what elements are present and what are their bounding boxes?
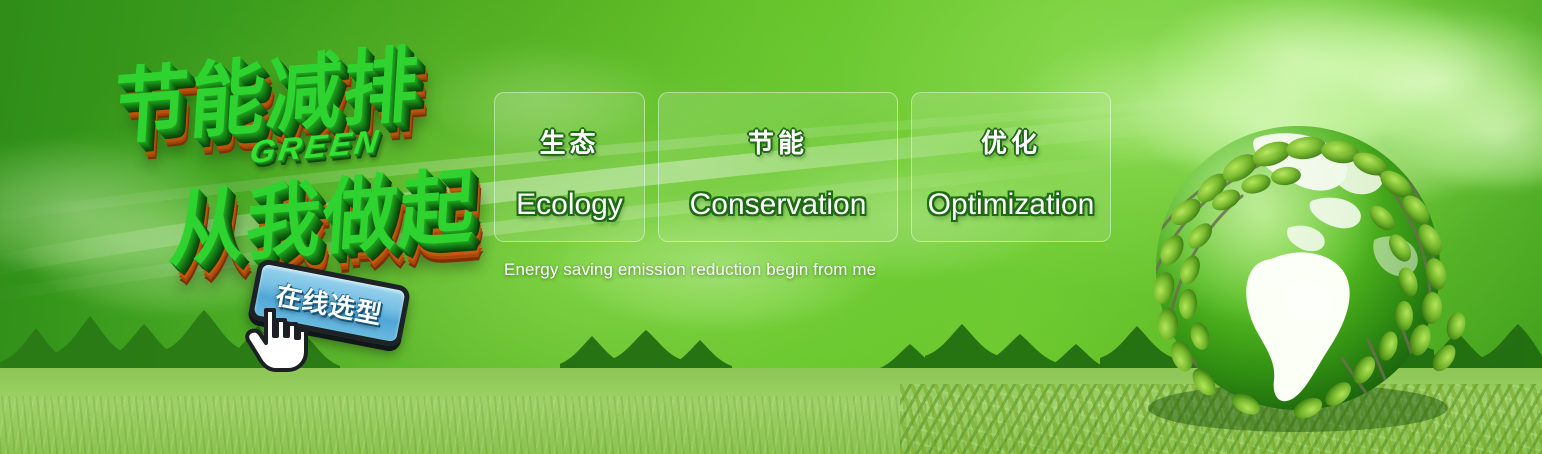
grass-field-icon (0, 368, 1542, 454)
hero-logo-line-green: GREEN (248, 123, 383, 171)
hero-logo-line-bottom: 从我做起 (166, 140, 480, 283)
feature-card-conservation[interactable]: 节能 Conservation (658, 92, 898, 242)
feature-card-ecology[interactable]: 生态 Ecology (494, 92, 645, 242)
online-selection-label: 在线选型 (273, 275, 386, 332)
cloud-icon (0, 140, 230, 270)
hero-logo-line-top: 节能减排 (110, 18, 424, 161)
feature-card-en-label: Optimization (928, 188, 1095, 222)
feature-card-list: 生态 Ecology 节能 Conservation 优化 Optimizati… (494, 92, 1111, 242)
feature-card-en-label: Conservation (690, 188, 867, 222)
grass-texture (0, 396, 1542, 454)
feature-card-en-label: Ecology (516, 188, 623, 222)
eco-hero-banner: 节能减排 GREEN 从我做起 在线选型 生态 Ecology 节能 Conse… (0, 0, 1542, 454)
feature-card-cn-label: 优化 (981, 123, 1041, 160)
online-selection-button[interactable]: 在线选型 (248, 258, 412, 348)
leafy-earth-globe-icon (1138, 108, 1468, 438)
feature-card-cn-label: 生态 (539, 123, 599, 160)
leaf-litter-icon (900, 384, 1542, 454)
feature-card-optimization[interactable]: 优化 Optimization (911, 92, 1111, 242)
cloud-icon (1150, 0, 1480, 140)
cloud-icon (1135, 58, 1385, 178)
cloud-icon (1390, 72, 1542, 187)
online-selection-cta[interactable]: 在线选型 (252, 272, 427, 367)
treeline-icon (0, 306, 1542, 398)
cloud-icon (1200, 96, 1500, 206)
feature-card-cn-label: 节能 (748, 123, 808, 160)
cloud-icon (1290, 10, 1542, 145)
banner-tagline: Energy saving emission reduction begin f… (504, 260, 876, 280)
hero-3d-logo: 节能减排 GREEN 从我做起 (100, 42, 480, 272)
